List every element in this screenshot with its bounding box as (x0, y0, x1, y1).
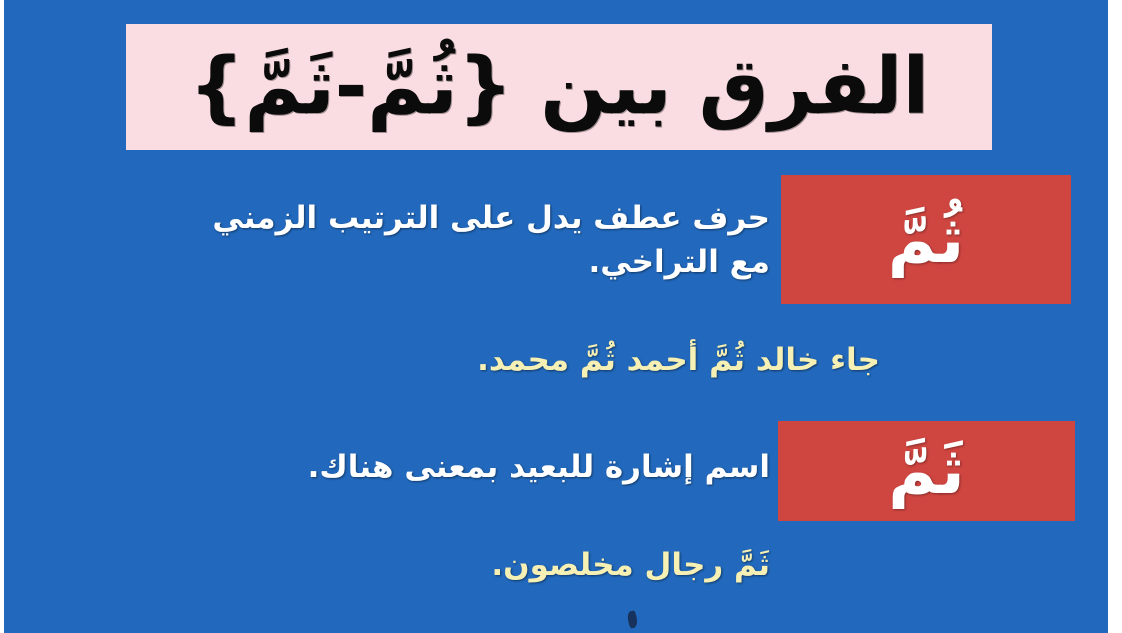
word-chip-thumma-label: ثُمَّ (888, 205, 965, 274)
definition-thumma: حرف عطف يدل على الترتيب الزمني مع التراخ… (170, 196, 770, 284)
right-edge-strip (1108, 0, 1122, 633)
page-title: الفرق بين {ثُمَّ-ثَمَّ} (189, 48, 929, 126)
slide-canvas: الفرق بين {ثُمَّ-ثَمَّ} ثُمَّ حرف عطف يد… (0, 0, 1122, 633)
title-banner: الفرق بين {ثُمَّ-ثَمَّ} (126, 24, 992, 150)
word-chip-thumma: ثُمَّ (781, 175, 1071, 304)
stray-mark-artifact (626, 610, 639, 629)
example-thamma: ثَمَّ رجال مخلصون. (300, 545, 770, 587)
left-edge-strip (0, 0, 4, 633)
word-chip-thamma: ثَمَّ (778, 421, 1075, 521)
example-thumma: جاء خالد ثُمَّ أحمد ثُمَّ محمد. (160, 340, 880, 382)
definition-thamma: اسم إشارة للبعيد بمعنى هناك. (230, 447, 770, 489)
word-chip-thamma-label: ثَمَّ (888, 436, 965, 505)
